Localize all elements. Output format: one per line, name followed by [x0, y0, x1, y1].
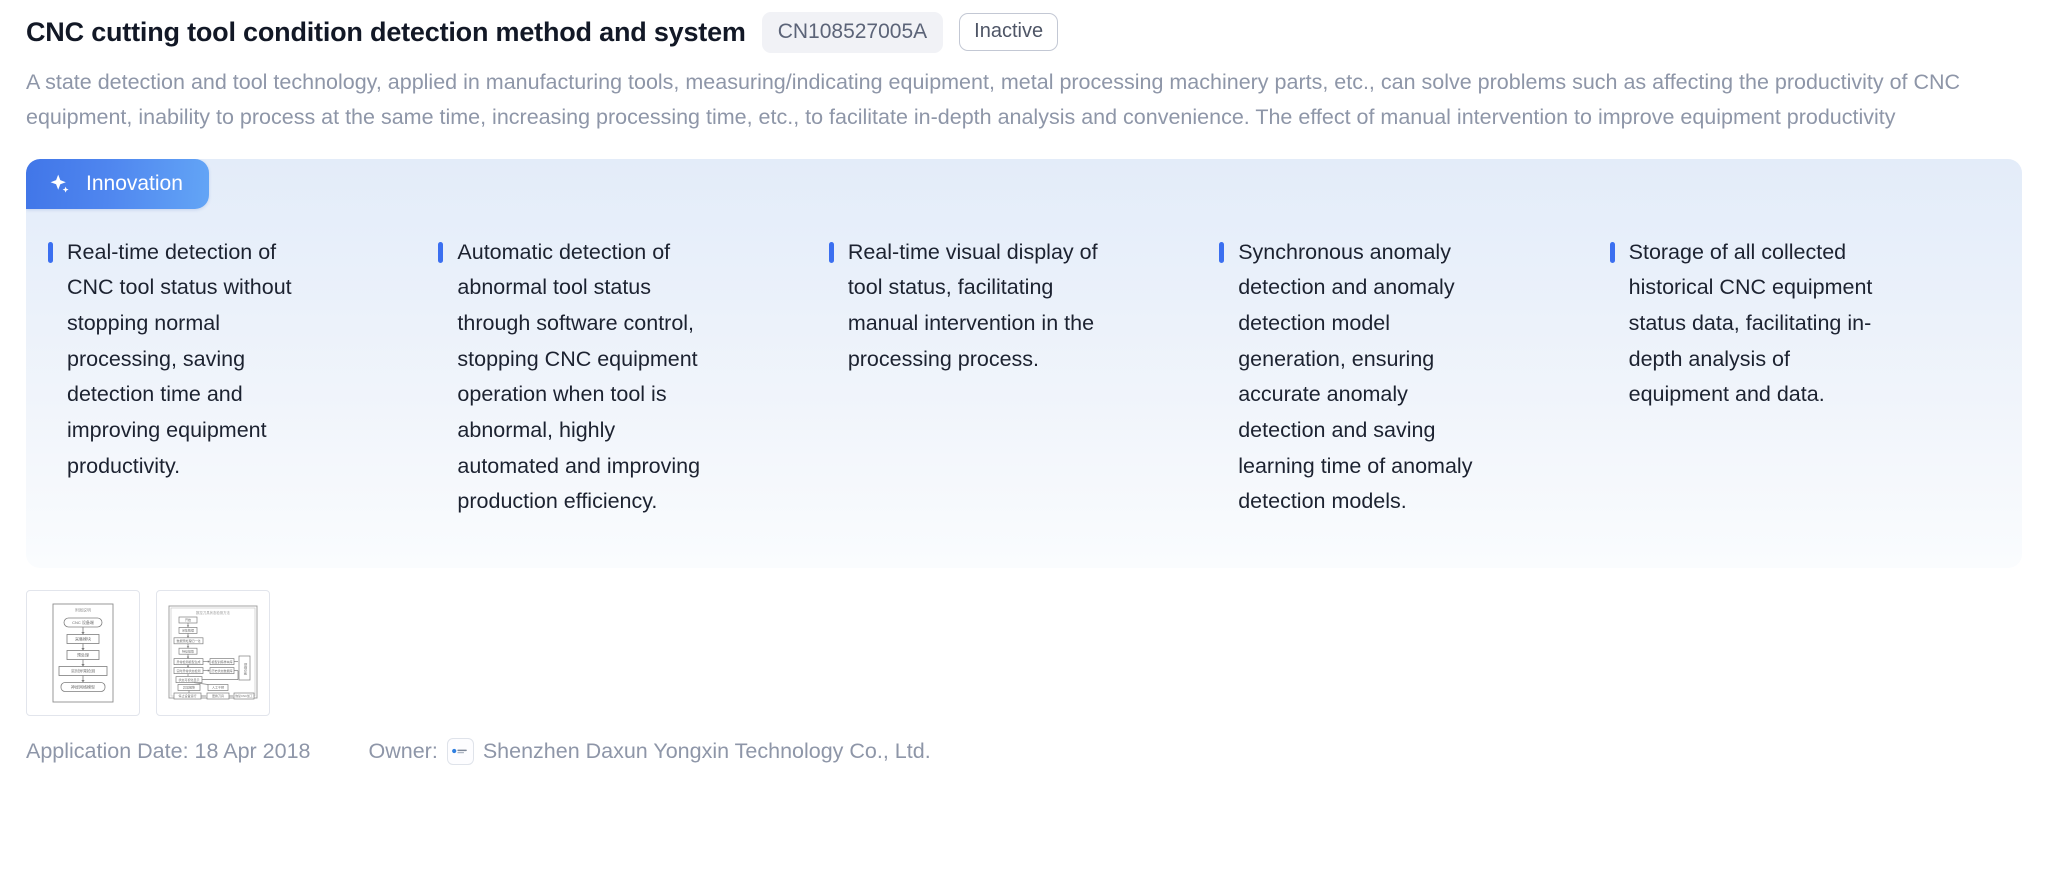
- page-title: CNC cutting tool condition detection met…: [26, 17, 746, 48]
- patent-figure-2[interactable]: 数控刀具状态检测方法 开始 采集数据 数据预处理归一化 特征提取 异常检测模: [156, 590, 270, 716]
- svg-text:异常检测模型生成: 异常检测模型生成: [176, 658, 200, 663]
- innovation-bullet-text: Automatic detection of abnormal tool sta…: [457, 235, 712, 521]
- bullet-marker-icon: [829, 242, 834, 263]
- svg-text:历史状态数据库: 历史状态数据库: [211, 667, 232, 672]
- header: CNC cutting tool condition detection met…: [26, 0, 2022, 52]
- innovation-bullet-text: Real-time visual display of tool status,…: [848, 235, 1103, 521]
- application-date-label: Application Date:: [26, 739, 189, 763]
- svg-text:停止设备运行: 停止设备运行: [178, 693, 196, 698]
- application-date-value: 18 Apr 2018: [195, 739, 311, 763]
- svg-text:更换刀具: 更换刀具: [212, 693, 224, 698]
- status-badge: Inactive: [959, 13, 1058, 51]
- sparkle-icon: [48, 172, 72, 196]
- list-item: Synchronous anomaly detection and anomal…: [1219, 235, 1609, 521]
- svg-text:数控刀具状态检测方法: 数控刀具状态检测方法: [196, 610, 231, 615]
- patent-number-chip[interactable]: CN108527005A: [762, 12, 943, 53]
- owner-info: Owner: Shenzhen Daxun Yongxin Technology…: [369, 738, 931, 765]
- innovation-panel: Innovation Real-time detection of CNC to…: [26, 159, 2022, 568]
- list-item: Storage of all collected historical CNC …: [1610, 235, 2000, 521]
- innovation-bullet-list: Real-time detection of CNC tool status w…: [26, 235, 2022, 521]
- svg-text:开始: 开始: [185, 617, 191, 622]
- svg-text:实时异常状态检测: 实时异常状态检测: [176, 667, 200, 672]
- patent-figure-thumbnails: 附图说明 CNC 设备端 采集模块 预处理 实时异常检测 神经网络模型: [26, 590, 2022, 716]
- application-date: Application Date: 18 Apr 2018: [26, 739, 311, 764]
- patent-abstract: A state detection and tool technology, a…: [26, 65, 2021, 135]
- svg-text:特征提取: 特征提取: [182, 648, 194, 653]
- svg-text:异常报警: 异常报警: [183, 684, 195, 689]
- svg-text:采集模块: 采集模块: [75, 635, 91, 641]
- innovation-bullet-text: Storage of all collected historical CNC …: [1629, 235, 1884, 521]
- innovation-badge-label: Innovation: [86, 172, 183, 196]
- bullet-marker-icon: [48, 242, 53, 263]
- patent-figure-1[interactable]: 附图说明 CNC 设备端 采集模块 预处理 实时异常检测 神经网络模型: [26, 590, 140, 716]
- bullet-marker-icon: [1610, 242, 1615, 263]
- svg-text:数据预处理归一化: 数据预处理归一化: [176, 638, 200, 643]
- svg-text:预处理: 预处理: [77, 651, 89, 657]
- list-item: Automatic detection of abnormal tool sta…: [438, 235, 828, 521]
- bullet-marker-icon: [1219, 242, 1224, 263]
- innovation-bullet-text: Real-time detection of CNC tool status w…: [67, 235, 322, 521]
- svg-text:模型训练样本库: 模型训练样本库: [211, 658, 232, 663]
- svg-text:人工干预: 人工干预: [212, 684, 224, 689]
- svg-text:采集数据: 采集数据: [182, 627, 194, 632]
- patent-detail-card: CNC cutting tool condition detection met…: [0, 0, 2048, 879]
- innovation-badge[interactable]: Innovation: [26, 159, 209, 209]
- bullet-marker-icon: [438, 242, 443, 263]
- svg-text:实时异常检测: 实时异常检测: [71, 667, 95, 673]
- innovation-bullet-text: Synchronous anomaly detection and anomal…: [1238, 235, 1493, 521]
- svg-text:CNC 设备端: CNC 设备端: [72, 619, 94, 625]
- list-item: Real-time detection of CNC tool status w…: [48, 235, 438, 521]
- svg-text:神经网络模型: 神经网络模型: [71, 683, 95, 689]
- owner-label: Owner:: [369, 739, 438, 764]
- footer: Application Date: 18 Apr 2018 Owner: She…: [26, 738, 2022, 765]
- svg-text:附图说明: 附图说明: [75, 606, 91, 612]
- svg-text:数据存储: 数据存储: [244, 663, 249, 675]
- svg-text:状态可视化显示: 状态可视化显示: [178, 676, 199, 681]
- company-logo-icon: [447, 738, 474, 765]
- list-item: Real-time visual display of tool status,…: [829, 235, 1219, 521]
- svg-text:恢复CNC加工: 恢复CNC加工: [235, 694, 252, 698]
- owner-name[interactable]: Shenzhen Daxun Yongxin Technology Co., L…: [483, 739, 931, 764]
